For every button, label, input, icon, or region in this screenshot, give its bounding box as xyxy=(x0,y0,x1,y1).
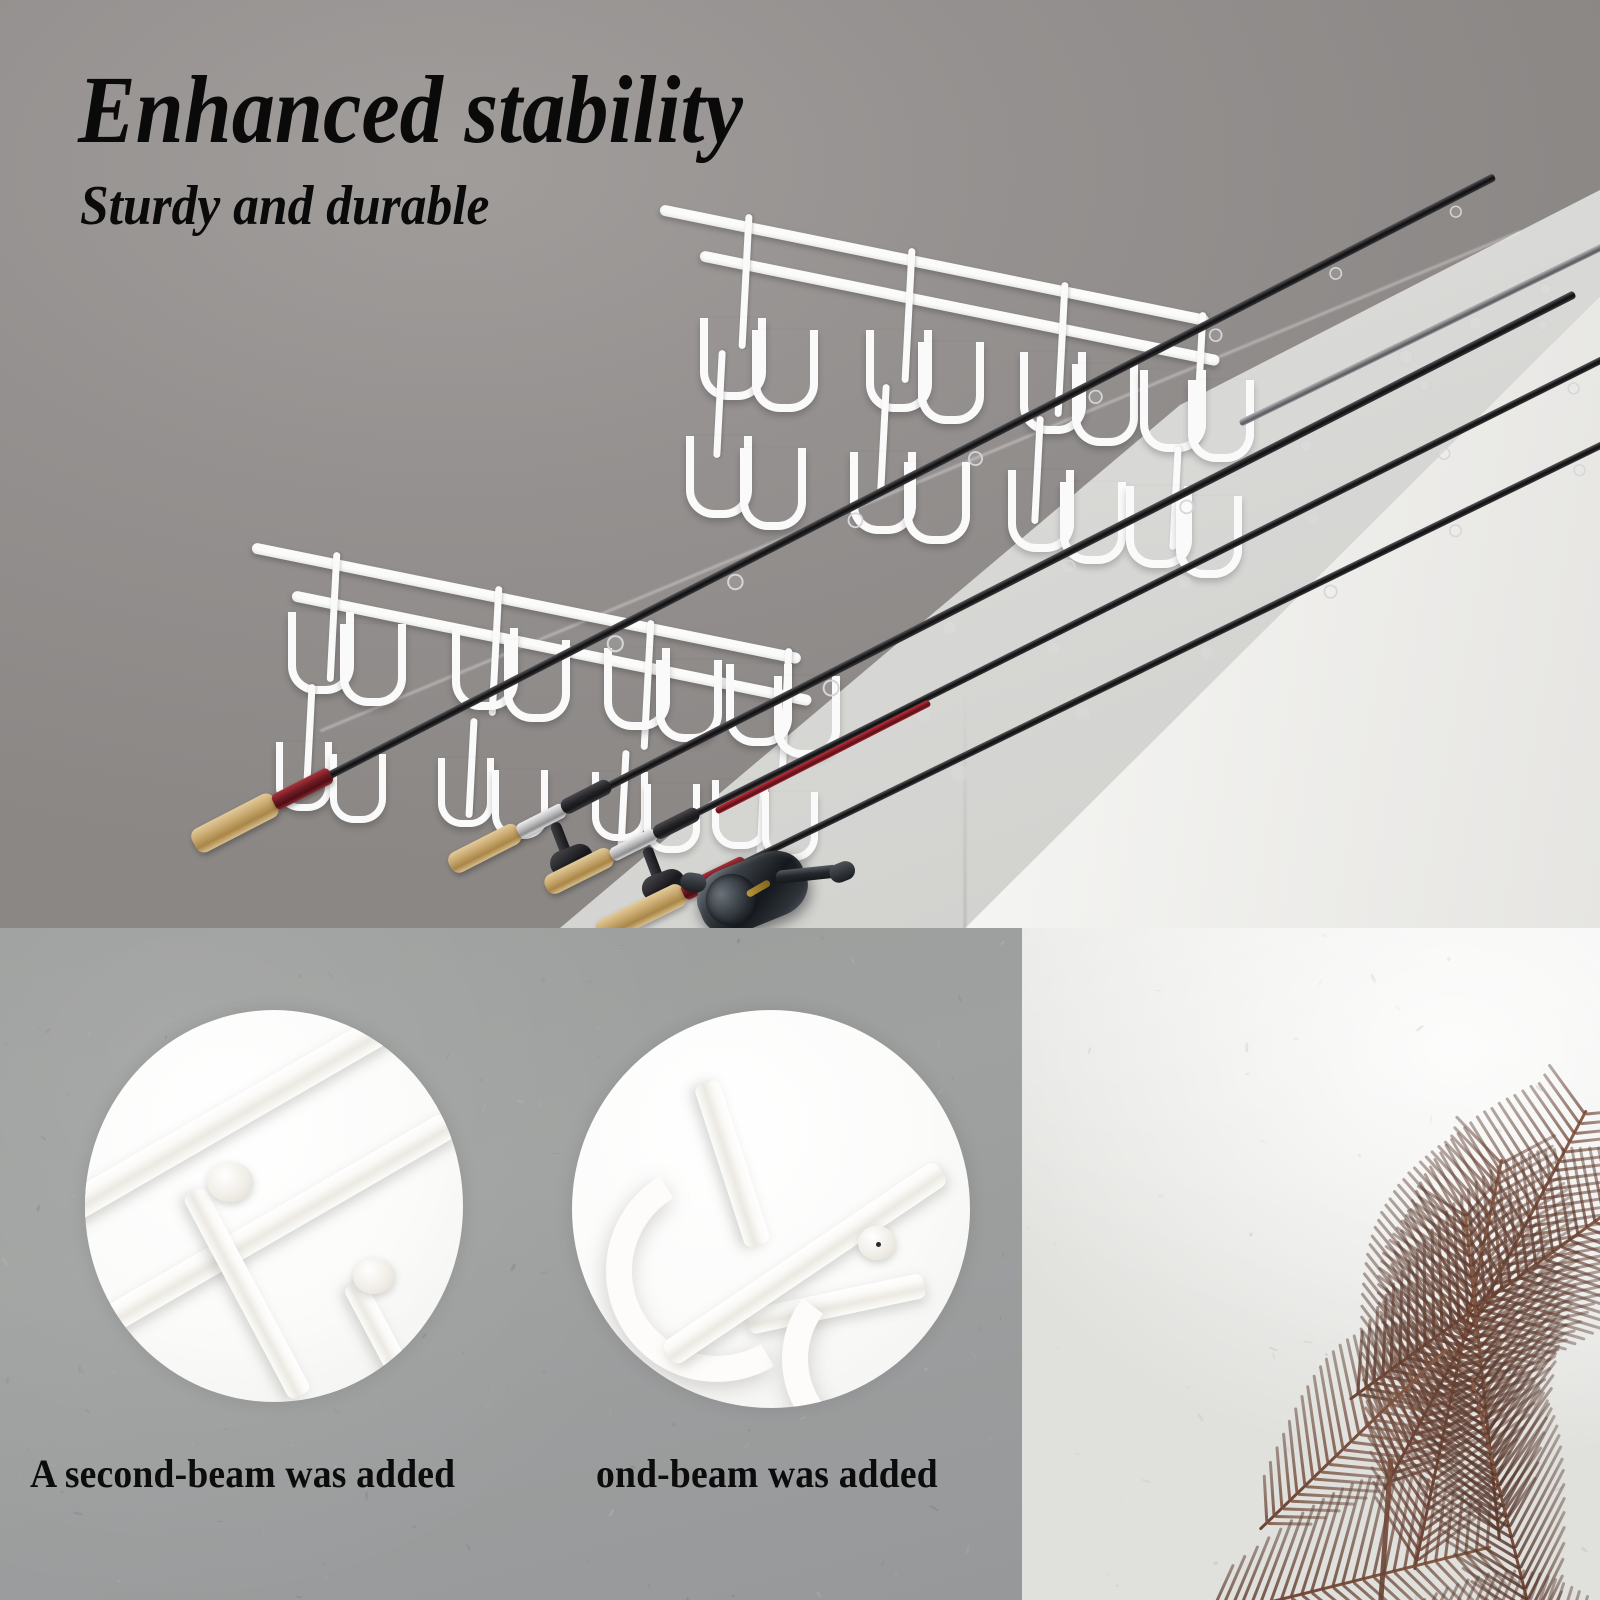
palm-leaflet xyxy=(1268,1522,1313,1526)
detail-panel: A second-beam was added ond-beam was add… xyxy=(0,928,1600,1600)
palm-leaflet xyxy=(1263,1475,1269,1523)
u-hook-lower2-1-0 xyxy=(438,758,494,827)
palm-plant xyxy=(20,928,1600,1600)
rod-4-reel-knob-2 xyxy=(679,871,707,893)
page-title: Enhanced stability xyxy=(78,62,743,158)
palm-leaflet xyxy=(1275,1515,1327,1519)
palm-leaflet xyxy=(1269,1461,1276,1516)
u-hook-lower-0-1 xyxy=(340,624,406,706)
palm-leaflet xyxy=(1275,1446,1283,1508)
u-hook-upper-1-1 xyxy=(918,342,984,424)
palm-leaflet xyxy=(1290,1498,1326,1598)
u-hook-upper-0-1 xyxy=(752,330,818,412)
product-marketing-image: A second-beam was added ond-beam was add… xyxy=(0,0,1600,1600)
palm-leaflet xyxy=(1300,1492,1335,1595)
palm-leaflet xyxy=(1585,1107,1600,1115)
u-hook-upper2-0-1 xyxy=(740,448,806,530)
palm-frond-3 xyxy=(1200,1545,1492,1600)
page-subtitle: Sturdy and durable xyxy=(80,178,489,234)
